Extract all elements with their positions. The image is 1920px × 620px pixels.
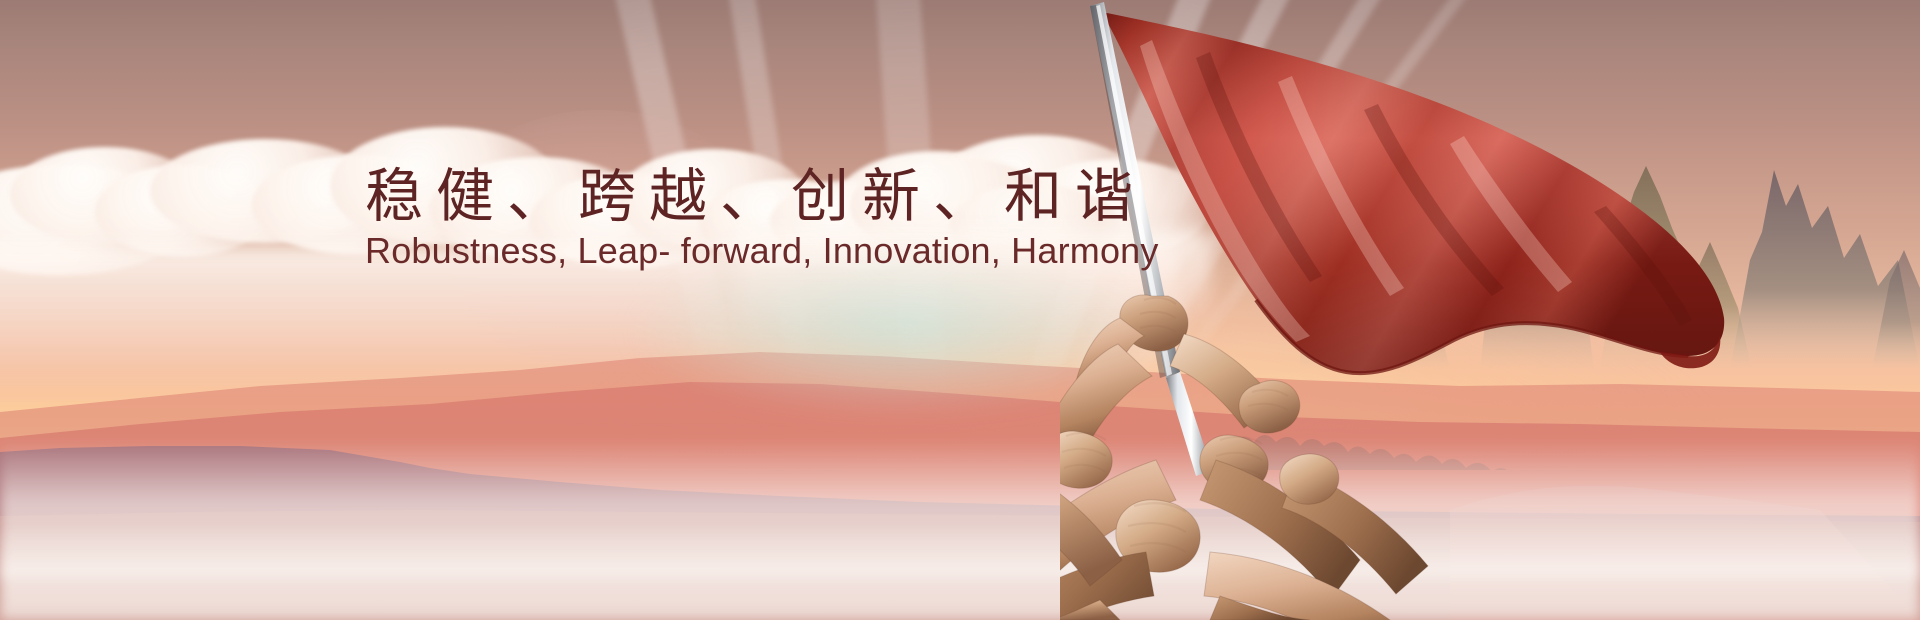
red-flag	[1102, 12, 1724, 373]
flag-and-arms	[1060, 0, 1920, 620]
headline-english: Robustness, Leap- forward, Innovation, H…	[365, 230, 1159, 272]
hand-mid-left	[1060, 431, 1112, 488]
headline-block: 稳健、跨越、创新、和谐 Robustness, Leap- forward, I…	[365, 168, 1159, 272]
hero-banner: 稳健、跨越、创新、和谐 Robustness, Leap- forward, I…	[0, 0, 1920, 620]
headline-chinese: 稳健、跨越、创新、和谐	[365, 168, 1159, 226]
